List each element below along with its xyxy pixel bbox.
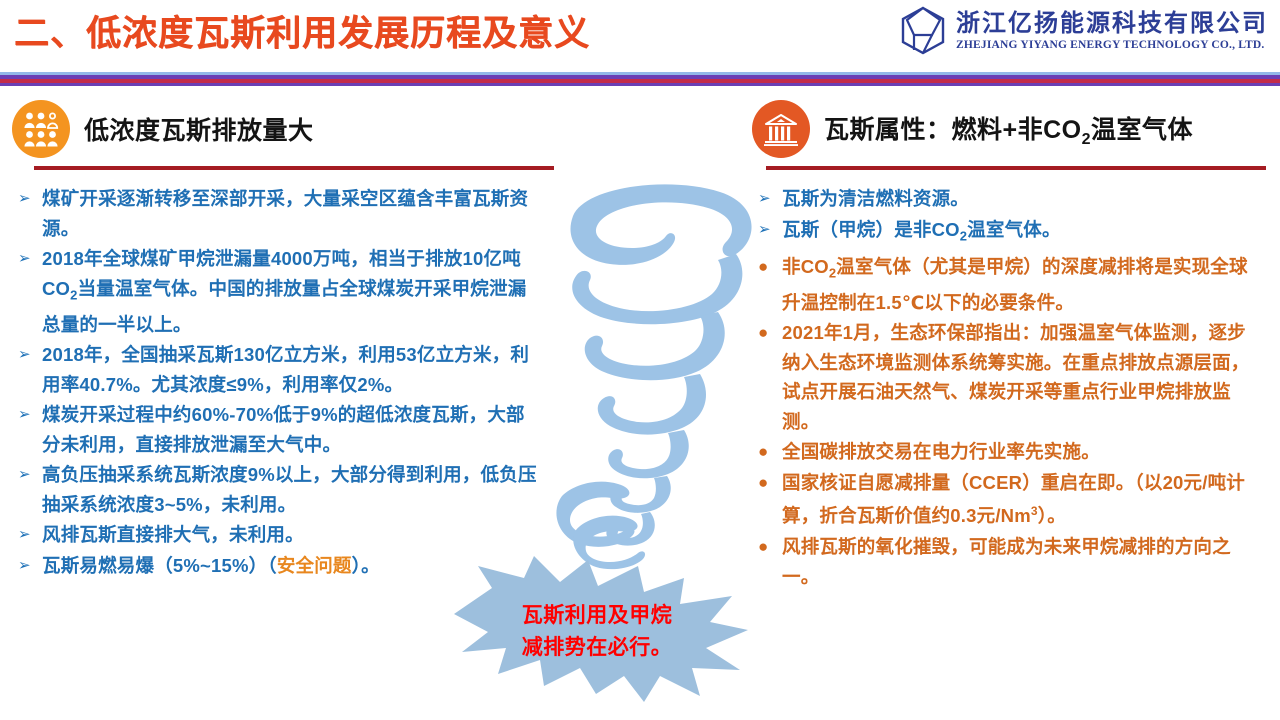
right-header-row: 瓦斯属性：燃料+非CO2温室气体 [752,100,1272,158]
people-group-icon [12,100,70,158]
list-item: ●风排瓦斯的氧化摧毁，可能成为未来甲烷减排的方向之一。 [752,532,1272,591]
text-run: 煤炭开采过程中约60%-70%低于9%的超低浓度瓦斯，大部分未利用，直接排放泄漏… [42,404,525,455]
left-header-row: 低浓度瓦斯排放量大 [12,100,557,158]
list-item-text: 风排瓦斯直接排大气，未利用。 [42,520,542,550]
text-run: 国家核证自愿减排量（CCER）重启在即。（以20元/吨计算，折合瓦斯价值约0.3… [782,472,1245,527]
text-run: 2 [70,287,77,302]
list-item: ➢瓦斯（甲烷）是非CO2温室气体。 [752,215,1272,251]
text-run: 安全问题 [277,555,352,576]
list-item-text: 非CO2温室气体（尤其是甲烷）的深度减排将是实现全球升温控制在1.5℃以下的必要… [782,252,1262,318]
text-run: 2018年，全国抽采瓦斯130亿立方米，利用53亿立方米，利用率40.7%。尤其… [42,344,529,395]
list-item-text: 风排瓦斯的氧化摧毁，可能成为未来甲烷减排的方向之一。 [782,532,1262,591]
list-item: ➢2018年，全国抽采瓦斯130亿立方米，利用53亿立方米，利用率40.7%。尤… [12,340,557,399]
bullet-arrow-icon: ➢ [12,400,42,429]
left-section-title: 低浓度瓦斯排放量大 [84,111,314,147]
text-run: 温室气体。 [967,219,1061,240]
bank-building-icon [752,100,810,158]
page-title: 二、低浓度瓦斯利用发展历程及意义 [14,12,590,56]
divider-band-purple-bottom [0,83,1280,86]
list-item: ●非CO2温室气体（尤其是甲烷）的深度减排将是实现全球升温控制在1.5℃以下的必… [752,252,1272,318]
callout-line-2: 减排势在必行。 [497,632,697,664]
right-title-sub: 2 [1082,131,1091,148]
bullet-dot-icon: ● [752,437,782,466]
bullet-arrow-icon: ➢ [12,340,42,369]
list-item: ➢高负压抽采系统瓦斯浓度9%以上，大部分得到利用，低负压抽采系统浓度3~5%，未… [12,460,557,519]
right-title-pre: 瓦斯属性：燃料+非CO [824,116,1082,144]
header-divider [0,72,1280,86]
bullet-arrow-icon: ➢ [12,551,42,580]
left-section: 低浓度瓦斯排放量大 ➢煤矿开采逐渐转移至深部开采，大量采空区蕴含丰富瓦斯资源。➢… [12,100,557,581]
bullet-arrow-icon: ➢ [12,520,42,549]
bullet-arrow-icon: ➢ [12,184,42,213]
text-run: ）。 [1038,506,1066,527]
callout-line-1: 瓦斯利用及甲烷 [497,600,697,632]
right-section-rule [766,166,1266,170]
left-bullet-list: ➢煤矿开采逐渐转移至深部开采，大量采空区蕴含丰富瓦斯资源。➢2018年全球煤矿甲… [12,184,557,580]
list-item-text: 高负压抽采系统瓦斯浓度9%以上，大部分得到利用，低负压抽采系统浓度3~5%，未利… [42,460,542,519]
bullet-dot-icon: ● [752,468,782,497]
text-run: 煤矿开采逐渐转移至深部开采，大量采空区蕴含丰富瓦斯资源。 [42,188,528,239]
logo-company-name-cn: 浙江亿扬能源科技有限公司 [956,10,1268,38]
list-item: ➢煤矿开采逐渐转移至深部开采，大量采空区蕴含丰富瓦斯资源。 [12,184,557,243]
right-section-header: 瓦斯属性：燃料+非CO2温室气体 [752,100,1272,172]
list-item: ➢风排瓦斯直接排大气，未利用。 [12,520,557,550]
list-item-text: 2018年全球煤矿甲烷泄漏量4000万吨，相当于排放10亿吨CO2当量温室气体。… [42,244,542,339]
list-item-text: 国家核证自愿减排量（CCER）重启在即。（以20元/吨计算，折合瓦斯价值约0.3… [782,468,1262,531]
text-run: 全国碳排放交易在电力行业率先实施。 [782,441,1100,462]
callout-text: 瓦斯利用及甲烷 减排势在必行。 [497,600,697,664]
text-run: 瓦斯为清洁燃料资源。 [782,188,969,209]
list-item: ➢煤炭开采过程中约60%-70%低于9%的超低浓度瓦斯，大部分未利用，直接排放泄… [12,400,557,459]
text-run: 瓦斯易燃易爆（5%~15%）（ [42,555,277,576]
company-logo: 浙江亿扬能源科技有限公司 ZHEJIANG YIYANG ENERGY TECH… [900,6,1268,56]
left-section-header: 低浓度瓦斯排放量大 [12,100,557,172]
right-bullet-list: ➢瓦斯为清洁燃料资源。➢瓦斯（甲烷）是非CO2温室气体。●非CO2温室气体（尤其… [752,184,1272,591]
list-item: ●国家核证自愿减排量（CCER）重启在即。（以20元/吨计算，折合瓦斯价值约0.… [752,468,1272,531]
left-section-rule [34,166,554,170]
logo-text: 浙江亿扬能源科技有限公司 ZHEJIANG YIYANG ENERGY TECH… [956,10,1268,52]
tornado-graphic [540,178,775,583]
text-run: 风排瓦斯直接排大气，未利用。 [42,524,304,545]
list-item-text: 煤矿开采逐渐转移至深部开采，大量采空区蕴含丰富瓦斯资源。 [42,184,542,243]
text-run: 温室气体（尤其是甲烷）的深度减排将是实现全球升温控制在1.5℃以下的必要条件。 [782,256,1248,313]
right-section-title: 瓦斯属性：燃料+非CO2温室气体 [824,110,1193,149]
logo-company-name-en: ZHEJIANG YIYANG ENERGY TECHNOLOGY CO., L… [956,38,1268,52]
right-title-post: 温室气体 [1091,116,1193,144]
text-run: 当量温室气体。中国的排放量占全球煤炭开采甲烷泄漏总量的一半以上。 [42,278,526,335]
bullet-dot-icon: ● [752,252,782,281]
bullet-arrow-icon: ➢ [752,215,782,244]
list-item-text: 瓦斯（甲烷）是非CO2温室气体。 [782,215,1262,251]
bullet-dot-icon: ● [752,318,782,347]
list-item: ➢瓦斯为清洁燃料资源。 [752,184,1272,214]
text-run: 3 [1031,504,1038,518]
list-item: ➢2018年全球煤矿甲烷泄漏量4000万吨，相当于排放10亿吨CO2当量温室气体… [12,244,557,339]
list-item-text: 2018年，全国抽采瓦斯130亿立方米，利用53亿立方米，利用率40.7%。尤其… [42,340,542,399]
list-item-text: 全国碳排放交易在电力行业率先实施。 [782,437,1262,467]
text-run: 瓦斯（甲烷）是非CO [782,219,960,240]
list-item-text: 2021年1月，生态环保部指出：加强温室气体监测，逐步纳入生态环境监测体系统筹实… [782,318,1262,436]
list-item: ●全国碳排放交易在电力行业率先实施。 [752,437,1272,467]
list-item-text: 煤炭开采过程中约60%-70%低于9%的超低浓度瓦斯，大部分未利用，直接排放泄漏… [42,400,542,459]
hexagon-cube-logo-icon [900,6,946,56]
bullet-dot-icon: ● [752,532,782,561]
bullet-arrow-icon: ➢ [12,244,42,273]
text-run: 非CO [782,256,829,277]
text-run: 2021年1月，生态环保部指出：加强温室气体监测，逐步纳入生态环境监测体系统筹实… [782,322,1250,432]
text-run: ）。 [352,555,380,576]
text-run: 高负压抽采系统瓦斯浓度9%以上，大部分得到利用，低负压抽采系统浓度3~5%，未利… [42,464,537,515]
right-section: 瓦斯属性：燃料+非CO2温室气体 ➢瓦斯为清洁燃料资源。➢瓦斯（甲烷）是非CO2… [752,100,1272,592]
bullet-arrow-icon: ➢ [752,184,782,213]
bullet-arrow-icon: ➢ [12,460,42,489]
slide-header: 二、低浓度瓦斯利用发展历程及意义 浙江亿扬能源科技有限公司 ZHEJIANG Y… [0,0,1280,90]
list-item-text: 瓦斯为清洁燃料资源。 [782,184,1262,214]
list-item: ●2021年1月，生态环保部指出：加强温室气体监测，逐步纳入生态环境监测体系统筹… [752,318,1272,436]
text-run: 风排瓦斯的氧化摧毁，可能成为未来甲烷减排的方向之一。 [782,536,1231,587]
